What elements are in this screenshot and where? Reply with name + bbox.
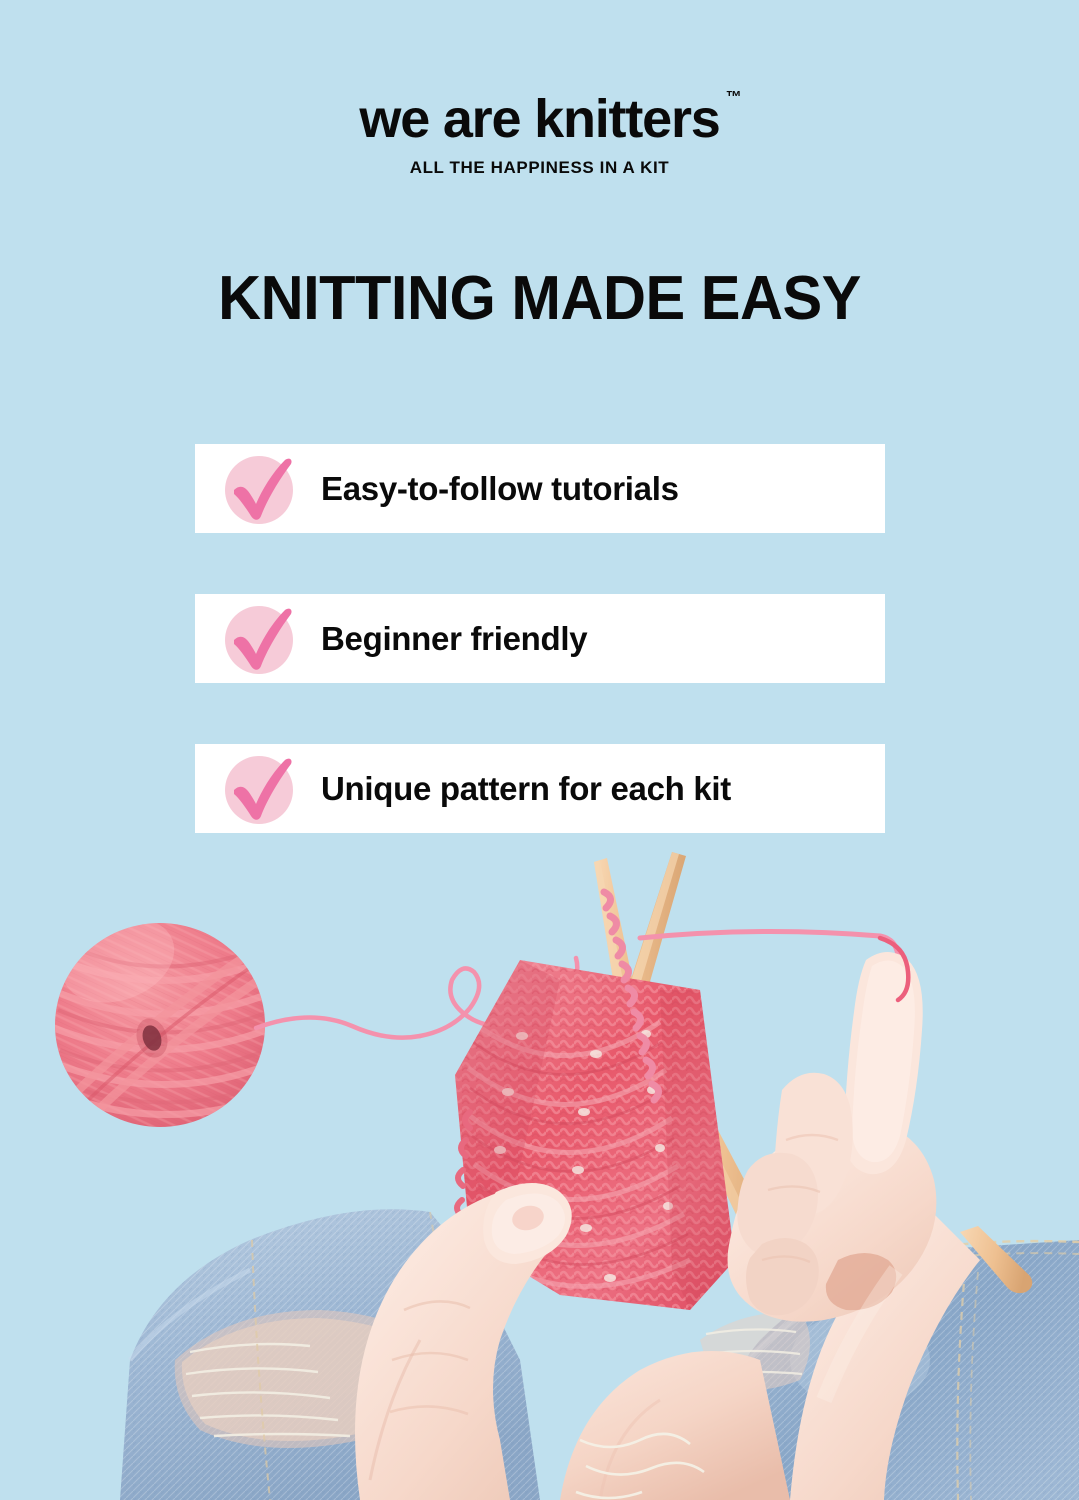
feature-label: Unique pattern for each kit: [321, 770, 731, 808]
check-mark-icon: [217, 446, 303, 532]
brand-logo: we are knitters ™ ALL THE HAPPINESS IN A…: [0, 92, 1079, 178]
brand-name: we are knitters ™: [359, 92, 719, 146]
hero-photo: [0, 840, 1079, 1500]
brand-name-text: we are knitters: [359, 89, 719, 149]
check-icon: [217, 446, 303, 532]
hero-photo-illustration: [0, 840, 1079, 1500]
feature-card: Easy-to-follow tutorials: [195, 444, 885, 533]
check-mark-icon: [217, 746, 303, 832]
check-icon: [217, 746, 303, 832]
feature-label: Beginner friendly: [321, 620, 587, 658]
check-icon: [217, 596, 303, 682]
check-mark-icon: [217, 596, 303, 682]
feature-card: Unique pattern for each kit: [195, 744, 885, 833]
brand-tagline: ALL THE HAPPINESS IN A KIT: [0, 158, 1079, 178]
feature-label: Easy-to-follow tutorials: [321, 470, 679, 508]
feature-card: Beginner friendly: [195, 594, 885, 683]
feature-list: Easy-to-follow tutorials Beginner friend…: [195, 444, 885, 894]
poster-canvas: we are knitters ™ ALL THE HAPPINESS IN A…: [0, 0, 1079, 1500]
page-title: KNITTING MADE EASY: [22, 268, 1058, 330]
trademark-icon: ™: [726, 90, 742, 106]
